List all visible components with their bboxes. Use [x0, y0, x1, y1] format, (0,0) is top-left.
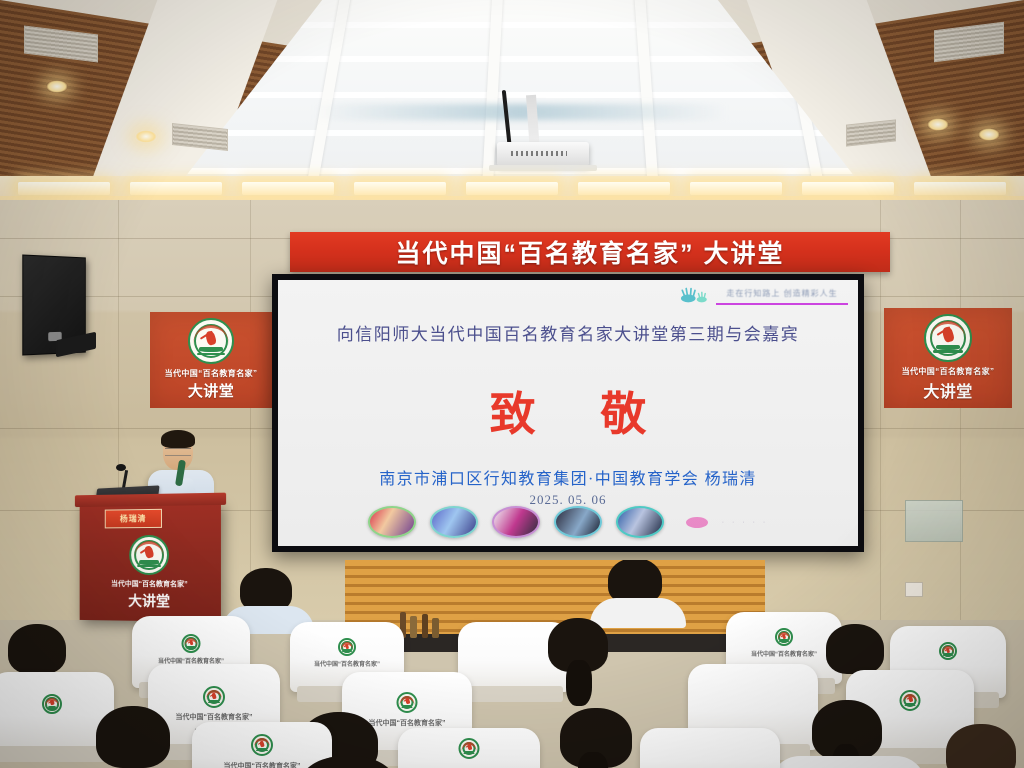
green-circle-emblem — [397, 692, 418, 713]
eyeglasses — [165, 448, 191, 456]
projection-screen: 走在行知路上 创造精彩人生 向信阳师大当代中国百名教育名家大讲堂第三期与会嘉宾 … — [272, 274, 864, 552]
stage-banner-text: 当代中国“百名教育名家” 大讲堂 — [396, 234, 785, 270]
projector-bracket — [489, 165, 597, 171]
slide-photo — [430, 506, 478, 538]
microphone-head — [116, 464, 126, 471]
downlight — [978, 128, 1000, 141]
podium-top-surface — [75, 493, 226, 507]
green-circle-emblem — [924, 314, 972, 362]
slide-tagline: 走在行知路上 创造精彩人生 — [718, 288, 846, 299]
chair — [640, 728, 780, 768]
green-circle-emblem — [775, 628, 793, 646]
green-circle-emblem — [203, 686, 225, 708]
stage-banner: 当代中国“百名教育名家” 大讲堂 — [290, 232, 890, 272]
slide-photo — [492, 506, 540, 538]
slide-title: 致 敬 — [278, 378, 858, 444]
projector — [497, 142, 589, 166]
slide-dedication-line: 向信阳师大当代中国百名教育名家大讲堂第三期与会嘉宾 — [278, 320, 858, 345]
green-circle-emblem — [251, 734, 273, 756]
podium-nameplate: 杨瑞清 — [105, 509, 162, 529]
green-circle-emblem — [459, 738, 480, 759]
audience-head — [946, 724, 1016, 768]
presentation-slide: 走在行知路上 创造精彩人生 向信阳师大当代中国百名教育名家大讲堂第三期与会嘉宾 … — [278, 280, 858, 546]
slide-strip-dots: · · · · · — [722, 519, 768, 526]
hand-splash-icon — [678, 286, 712, 304]
lecture-hall-photo: 当代中国“百名教育名家” 大讲堂 当代中国“百名教育名家” 大讲堂 当代中国“百… — [0, 0, 1024, 768]
wall-panel-line1: 当代中国“百名教育名家” — [884, 366, 1012, 377]
audience-area: 当代中国“百名教育名家” 大 讲 堂 当代中国“百名教育名家” 当代中国“百名教… — [0, 560, 1024, 768]
green-circle-emblem — [188, 318, 234, 364]
green-circle-emblem — [338, 638, 356, 656]
slide-organization: 南京市浦口区行知教育集团·中国教育学会 杨瑞清 — [278, 465, 858, 489]
chair: 当代中国“百名教育名家” 大 讲 堂 — [192, 722, 332, 768]
wall-sign — [905, 500, 963, 542]
chair-line1: 当代中国“百名教育名家” — [290, 659, 404, 668]
audience-shoulders — [590, 598, 686, 628]
podium-nameplate-text: 杨瑞清 — [120, 513, 147, 524]
green-circle-emblem — [939, 642, 957, 660]
table-bottles — [398, 612, 446, 638]
wall-panel-line1: 当代中国“百名教育名家” — [150, 368, 272, 379]
ceiling — [0, 0, 1024, 205]
audience-head — [8, 624, 66, 674]
speaker-hair — [161, 430, 195, 448]
slide-photo-strip: · · · · · — [278, 506, 858, 538]
slide-photo — [616, 506, 664, 538]
audience-head — [96, 706, 170, 768]
slide-photo — [554, 506, 602, 538]
slide-partner-logo — [686, 517, 708, 528]
chair-line1: 当代中国“百名教育名家” — [726, 649, 842, 658]
slide-photo — [368, 506, 416, 538]
green-circle-emblem — [900, 690, 921, 711]
wall-logo-panel-right: 当代中国“百名教育名家” 大讲堂 — [884, 308, 1012, 408]
audience-shoulders — [770, 756, 926, 768]
green-circle-emblem — [182, 634, 201, 653]
downlight — [927, 118, 949, 131]
green-circle-emblem — [42, 694, 62, 714]
audience-head — [826, 624, 884, 674]
slide-tagline-rule — [716, 303, 848, 305]
chair — [398, 728, 540, 768]
downlight — [135, 130, 157, 143]
wall-panel-line2: 大讲堂 — [150, 380, 272, 401]
downlight — [46, 80, 68, 93]
wall-logo-panel-left: 当代中国“百名教育名家” 大讲堂 — [150, 312, 272, 408]
audience-ponytail — [566, 660, 592, 706]
chair-line1: 当代中国“百名教育名家” — [148, 712, 280, 722]
wall-panel-line2: 大讲堂 — [884, 378, 1012, 402]
